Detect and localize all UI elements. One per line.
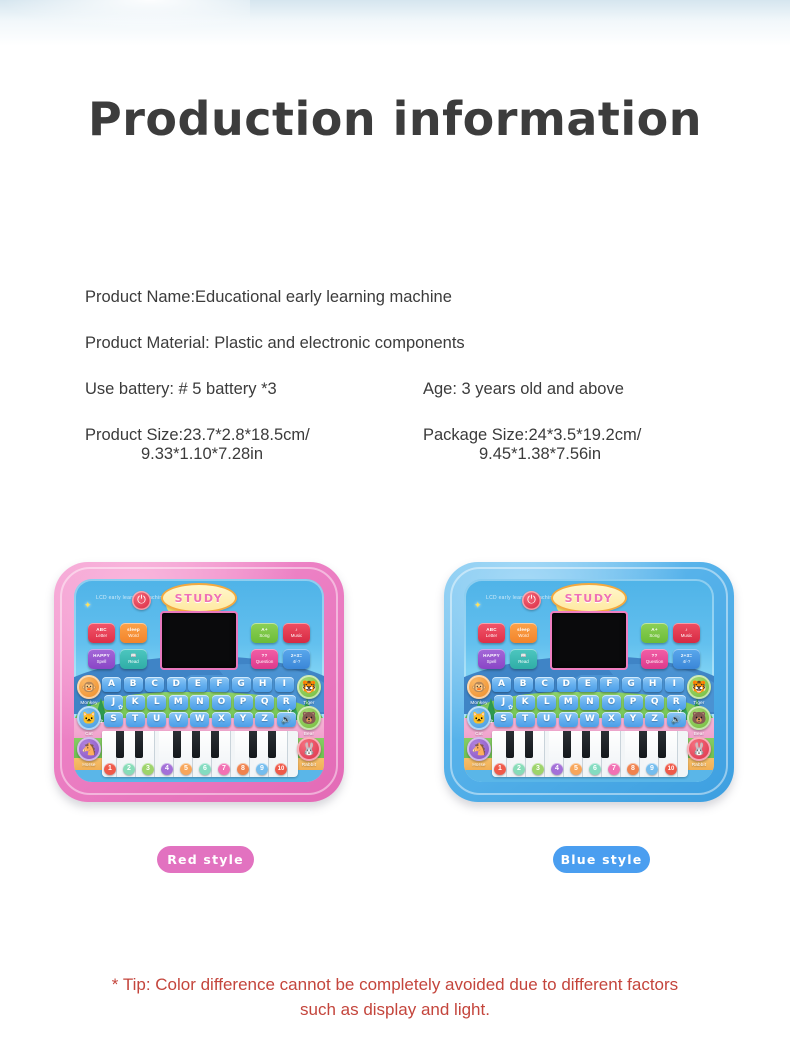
piano-keyboard[interactable]: 1 2 3 4 5 6 7 8 9 10 [102,731,298,777]
flower-icon: ✿ [508,705,513,711]
piano-number-button[interactable]: 4 [551,763,563,775]
key-v[interactable]: V [559,712,578,727]
key-x[interactable]: X [602,712,621,727]
function-button-spell[interactable]: HAPPY Spell [88,649,115,669]
alphabet-keyboard[interactable]: A B C D E F G H I J K [102,677,298,730]
function-button-label: Spell [487,660,497,664]
function-button-label: Question [256,660,274,664]
key-m[interactable]: M [559,695,578,710]
animal-button-label: Rabbit [686,762,712,767]
keyboard-row: J K L M N O P Q R [102,695,298,710]
spec-product-size-line1: Product Size:23.7*2.8*18.5cm/ [85,426,423,445]
study-logo-badge: STUDY [161,583,237,613]
function-button-top-label: ?? [651,654,657,659]
tiger-icon: 🐯 [687,675,711,699]
tiger-icon: 🐯 [297,675,321,699]
function-button-music[interactable]: ♪ Music [673,623,700,643]
animal-button-tiger[interactable]: 🐯 Tiger [296,675,322,705]
style-label-red[interactable]: Red style [157,846,254,873]
function-button-top-label: ABC [96,628,107,633]
piano-black-key[interactable] [135,731,143,758]
function-button-top-label: 2+3= [681,654,692,659]
spec-row-product-material: Product Material: Plastic and electronic… [85,334,745,380]
sparkle-icon: ✦ [84,601,92,610]
spec-package-size-line1: Package Size:24*3.5*19.2cm/ [423,426,745,445]
animal-button-horse[interactable]: 🐴 Horse [76,737,102,767]
function-button-label: Word [518,634,528,638]
flower-icon: ✿ [287,709,292,715]
function-button-top-label: sleep [517,628,530,633]
key-q[interactable]: Q [645,695,664,710]
function-button-math[interactable]: 2+3= 4/-? [283,649,310,669]
key-n[interactable]: N [190,695,209,710]
function-button-top-label: ABC [486,628,497,633]
spec-age: Age: 3 years old and above [423,380,745,399]
monkey-icon: 🐵 [77,675,101,699]
keyboard-row: A B C D E F G H I [102,677,298,692]
book-icon: 📖 [131,654,137,659]
function-button-label: 4/-? [293,660,301,664]
key-a[interactable]: A [492,677,511,692]
key-p[interactable]: P [234,695,253,710]
animal-button-bear[interactable]: 🐻 Bear [296,706,322,736]
piano-number-button[interactable]: 8 [237,763,249,775]
keyboard-row: A B C D E F G H I [492,677,688,692]
key-s[interactable]: S [494,712,513,727]
keyboard-row: J K L M N O P Q R [492,695,688,710]
piano-number-button[interactable]: 9 [646,763,658,775]
animal-button-rabbit[interactable]: 🐰 Rabbit [686,737,712,767]
piano-number-button[interactable]: 8 [627,763,639,775]
piano-keyboard[interactable]: 1 2 3 4 5 6 7 8 9 10 [492,731,688,777]
piano-black-key[interactable] [192,731,200,758]
color-difference-tip: * Tip: Color difference cannot be comple… [0,972,790,1022]
music-note-icon: ♪ [295,628,298,633]
spec-product-material: Product Material: Plastic and electronic… [85,334,745,353]
piano-black-key[interactable] [563,731,571,758]
lcd-screen [160,611,238,670]
function-button-question[interactable]: ?? Question [251,649,278,669]
book-icon: 📖 [521,654,527,659]
key-f[interactable]: F [600,677,619,692]
key-b[interactable]: B [514,677,533,692]
function-button-top-label: HAPPY [483,654,500,659]
product-gallery: LCD early learning machine ✦ ✦ ✦ ⏻ STUDY… [0,556,790,808]
flower-icon: ✿ [677,709,682,715]
piano-number-button[interactable]: 2 [123,763,135,775]
animal-button-label: Bear [296,731,322,736]
function-button-music[interactable]: ♪ Music [283,623,310,643]
bear-icon: 🐻 [297,706,321,730]
function-button-label: Question [646,660,664,664]
function-button-song[interactable]: A+ Song [251,623,278,643]
piano-black-key[interactable] [268,731,276,758]
tablet-front-panel-blue: LCD early learning machine ✦ ✦ ✦ ⏻ STUDY… [464,579,714,782]
keyboard-row: S T U V W X Y Z 🔊 [102,712,298,727]
key-w[interactable]: W [580,712,599,727]
animal-button-label: Monkey [76,700,102,705]
key-t[interactable]: T [516,712,535,727]
key-u[interactable]: U [537,712,556,727]
function-button-label: Music [681,634,692,638]
piano-black-key[interactable] [658,731,666,758]
spec-package-size-line2: 9.45*1.38*7.56in [423,445,745,464]
function-button-label: Letter [96,634,107,638]
function-button-letter[interactable]: ABC Letter [88,623,115,643]
function-button-song[interactable]: A+ Song [641,623,668,643]
spec-row-battery-age: Use battery: # 5 battery *3 Age: 3 years… [85,380,745,426]
key-i[interactable]: I [275,677,294,692]
key-s[interactable]: S [104,712,123,727]
key-w[interactable]: W [190,712,209,727]
key-y[interactable]: Y [624,712,643,727]
piano-number-button[interactable]: 1 [104,763,116,775]
animal-button-label: Tiger [296,700,322,705]
piano-number-button[interactable]: 4 [161,763,173,775]
horse-icon: 🐴 [467,737,491,761]
key-z[interactable]: Z [645,712,664,727]
function-button-label: Song [649,634,659,638]
animal-button-label: Horse [76,762,102,767]
key-x[interactable]: X [212,712,231,727]
key-r[interactable]: R [277,695,296,710]
piano-number-button[interactable]: 10 [665,763,677,775]
piano-number-button[interactable]: 1 [494,763,506,775]
animal-button-label: Monkey [466,700,492,705]
key-y[interactable]: Y [234,712,253,727]
spec-product-name: Product Name:Educational early learning … [85,288,745,307]
tip-line-2: such as display and light. [0,997,790,1022]
key-l[interactable]: L [147,695,166,710]
function-button-top-label: 2+3= [291,654,302,659]
piano-black-key[interactable] [639,731,647,758]
function-button-label: Letter [486,634,497,638]
function-button-read[interactable]: 📖 Read [510,649,537,669]
piano-black-key[interactable] [211,731,219,758]
spec-age-column: Age: 3 years old and above [423,380,745,426]
flower-icon: ✿ [118,705,123,711]
animal-button-label: Tiger [686,700,712,705]
piano-number-button[interactable]: 5 [570,763,582,775]
key-c[interactable]: C [535,677,554,692]
function-button-label: Read [518,660,529,664]
key-d[interactable]: D [167,677,186,692]
piano-number-button[interactable]: 3 [532,763,544,775]
function-button-label: Song [259,634,269,638]
function-button-label: Read [128,660,139,664]
key-a[interactable]: A [102,677,121,692]
function-button-math[interactable]: 2+3= 4/-? [673,649,700,669]
piano-black-key[interactable] [173,731,181,758]
key-d[interactable]: D [557,677,576,692]
key-r[interactable]: R [667,695,686,710]
tablet-body-red: LCD early learning machine ✦ ✦ ✦ ⏻ STUDY… [54,562,344,802]
key-h[interactable]: H [253,677,272,692]
alphabet-keyboard[interactable]: A B C D E F G H I J K [492,677,688,730]
key-k[interactable]: K [516,695,535,710]
brand-microtext: LCD early learning machine [486,595,556,601]
lcd-screen [550,611,628,670]
spec-battery-column: Use battery: # 5 battery *3 [85,380,423,426]
product-information-page: Production information Product Name:Educ… [0,0,790,1053]
piano-black-key[interactable] [601,731,609,758]
piano-black-key[interactable] [116,731,124,758]
animal-button-tiger[interactable]: 🐯 Tiger [686,675,712,705]
key-k[interactable]: K [126,695,145,710]
key-p[interactable]: P [624,695,643,710]
key-e[interactable]: E [188,677,207,692]
product-photo-blue-style[interactable]: LCD early learning machine ✦ ✦ ✦ ⏻ STUDY… [434,556,746,808]
animal-button-label: Cat [76,731,102,736]
spec-row-sizes: Product Size:23.7*2.8*18.5cm/ 9.33*1.10*… [85,426,745,482]
function-button-top-label: A+ [261,628,267,633]
piano-black-key[interactable] [506,731,514,758]
key-g[interactable]: G [622,677,641,692]
monkey-icon: 🐵 [467,675,491,699]
function-button-read[interactable]: 📖 Read [120,649,147,669]
key-c[interactable]: C [145,677,164,692]
animal-button-monkey[interactable]: 🐵 Monkey [466,675,492,705]
spec-row-product-name: Product Name:Educational early learning … [85,288,745,334]
key-o[interactable]: O [602,695,621,710]
study-logo-badge: STUDY [551,583,627,613]
power-button[interactable]: ⏻ [522,591,541,610]
function-button-label: 4/-? [683,660,691,664]
piano-number-button[interactable]: 7 [218,763,230,775]
piano-number-button[interactable]: 5 [180,763,192,775]
key-e[interactable]: E [578,677,597,692]
study-logo-text: STUDY [175,592,224,605]
key-h[interactable]: H [643,677,662,692]
specification-list: Product Name:Educational early learning … [85,288,745,482]
animal-button-monkey[interactable]: 🐵 Monkey [76,675,102,705]
key-v[interactable]: V [169,712,188,727]
spec-use-battery: Use battery: # 5 battery *3 [85,380,423,399]
study-logo-text: STUDY [565,592,614,605]
piano-number-button[interactable]: 6 [589,763,601,775]
function-button-word[interactable]: sleep Word [510,623,537,643]
music-note-icon: ♪ [685,628,688,633]
function-button-top-label: ?? [261,654,267,659]
animal-button-label: Horse [466,762,492,767]
piano-black-key[interactable] [525,731,533,758]
piano-number-button[interactable]: 10 [275,763,287,775]
top-gradient-wash [0,0,790,46]
piano-number-button[interactable]: 9 [256,763,268,775]
spec-product-size-column: Product Size:23.7*2.8*18.5cm/ 9.33*1.10*… [85,426,423,482]
spec-product-size-line2: 9.33*1.10*7.28in [85,445,423,464]
horse-icon: 🐴 [77,737,101,761]
style-label-blue[interactable]: Blue style [553,846,650,873]
key-l[interactable]: L [537,695,556,710]
key-b[interactable]: B [124,677,143,692]
key-q[interactable]: Q [255,695,274,710]
function-button-label: Spell [97,660,107,664]
animal-button-label: Cat [466,731,492,736]
function-button-label: Music [291,634,302,638]
animal-button-cat[interactable]: 🐱 Cat [76,706,102,736]
function-button-spell[interactable]: HAPPY Spell [478,649,505,669]
piano-number-button[interactable]: 7 [608,763,620,775]
key-m[interactable]: M [169,695,188,710]
function-button-top-label: HAPPY [93,654,110,659]
product-photo-red-style[interactable]: LCD early learning machine ✦ ✦ ✦ ⏻ STUDY… [44,556,356,808]
cat-icon: 🐱 [77,706,101,730]
rabbit-icon: 🐰 [297,737,321,761]
power-button[interactable]: ⏻ [132,591,151,610]
function-button-top-label: A+ [651,628,657,633]
key-o[interactable]: O [212,695,231,710]
function-button-word[interactable]: sleep Word [120,623,147,643]
piano-black-key[interactable] [582,731,590,758]
bear-icon: 🐻 [687,706,711,730]
animal-button-bear[interactable]: 🐻 Bear [686,706,712,736]
spec-package-size-column: Package Size:24*3.5*19.2cm/ 9.45*1.38*7.… [423,426,745,482]
piano-number-button[interactable]: 3 [142,763,154,775]
function-button-label: Word [128,634,138,638]
key-i[interactable]: I [665,677,684,692]
function-button-letter[interactable]: ABC Letter [478,623,505,643]
key-n[interactable]: N [580,695,599,710]
animal-button-label: Rabbit [296,762,322,767]
keyboard-row: S T U V W X Y Z 🔊 [492,712,688,727]
sparkle-icon: ✦ [474,601,482,610]
key-u[interactable]: U [147,712,166,727]
key-t[interactable]: T [126,712,145,727]
function-button-question[interactable]: ?? Question [641,649,668,669]
animal-button-label: Bear [686,731,712,736]
page-title: Production information [0,92,790,146]
key-z[interactable]: Z [255,712,274,727]
piano-black-key[interactable] [249,731,257,758]
piano-number-button[interactable]: 6 [199,763,211,775]
piano-number-button[interactable]: 2 [513,763,525,775]
brand-microtext: LCD early learning machine [96,595,166,601]
animal-button-rabbit[interactable]: 🐰 Rabbit [296,737,322,767]
rabbit-icon: 🐰 [687,737,711,761]
tablet-body-blue: LCD early learning machine ✦ ✦ ✦ ⏻ STUDY… [444,562,734,802]
cat-icon: 🐱 [467,706,491,730]
tablet-front-panel-red: LCD early learning machine ✦ ✦ ✦ ⏻ STUDY… [74,579,324,782]
tip-line-1: * Tip: Color difference cannot be comple… [112,975,678,994]
animal-button-horse[interactable]: 🐴 Horse [466,737,492,767]
function-button-top-label: sleep [127,628,140,633]
animal-button-cat[interactable]: 🐱 Cat [466,706,492,736]
key-g[interactable]: G [232,677,251,692]
key-f[interactable]: F [210,677,229,692]
